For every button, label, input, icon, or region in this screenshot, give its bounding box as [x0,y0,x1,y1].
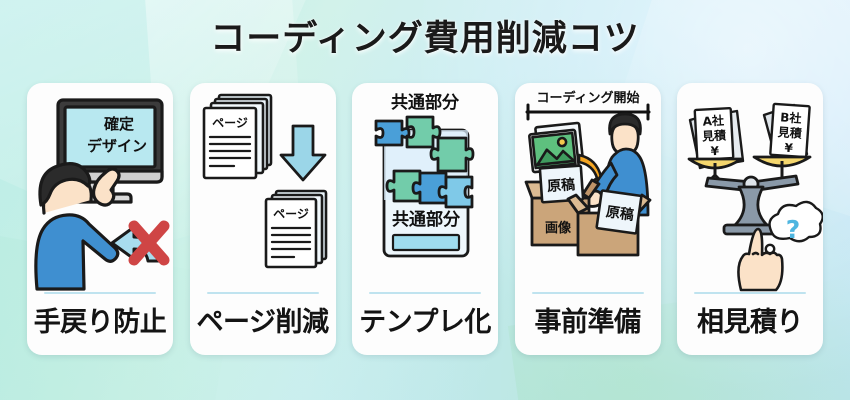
common-part-panel-label: 共通部分 [392,209,461,230]
card-label-reduce-pages: ページ削減 [190,303,336,343]
page-stack-top-label: ページ [212,116,248,130]
page-stack-bottom-label: ページ [273,207,309,221]
assets-preparation-boxes-illustration: コーディング開始 [515,83,661,293]
tips-card-row: 確定 デザイン [27,83,823,355]
quote-b-yen: ¥ [784,141,794,156]
quote-a-company: A社 [702,112,724,128]
quote-a-estimate: 見積 [701,127,728,143]
tip-card-prevent-rework[interactable]: 確定 デザイン [27,83,173,355]
card-divider [207,292,319,294]
page-title: コーディング費用削減コツ [0,17,850,61]
screen-text-line2: デザイン [87,137,147,155]
card-divider [532,292,644,294]
screen-text-line1: 確定 [103,115,134,133]
tip-card-templating[interactable]: 共通部分 共通部分 [352,83,498,355]
page-stacks-reduction-illustration: ページ [190,83,336,293]
card-divider [44,292,156,294]
quote-a-yen: ¥ [710,144,720,158]
balance-scale-quotes-illustration: A社 見積 ¥ B社 見積 ¥ [677,83,823,293]
image-box-label: 画像 [544,220,571,236]
card-label-advance-preparation: 事前準備 [515,303,661,343]
common-part-heading: 共通部分 [391,92,460,113]
quote-b-estimate: 見積 [776,124,803,141]
monitor-confirmed-design-illustration: 確定 デザイン [27,83,173,293]
card-label-competitive-quotes: 相見積り [677,303,823,343]
tip-card-reduce-pages[interactable]: ページ [190,83,336,355]
coding-start-bracket-label: コーディング開始 [536,90,639,106]
card-divider [369,292,481,294]
puzzle-template-illustration: 共通部分 共通部分 [352,83,498,293]
thought-question-mark: ? [786,215,801,244]
tip-card-advance-preparation[interactable]: コーディング開始 [515,83,661,355]
card-label-prevent-rework: 手戻り防止 [27,303,173,343]
quote-b-company: B社 [780,109,802,125]
card-label-templating: テンプレ化 [352,303,498,343]
infographic-canvas: コーディング費用削減コツ 確定 デザイン [0,0,850,400]
manuscript-label-left: 原稿 [546,176,575,195]
tip-card-competitive-quotes[interactable]: A社 見積 ¥ B社 見積 ¥ [677,83,823,355]
card-divider [694,292,806,294]
